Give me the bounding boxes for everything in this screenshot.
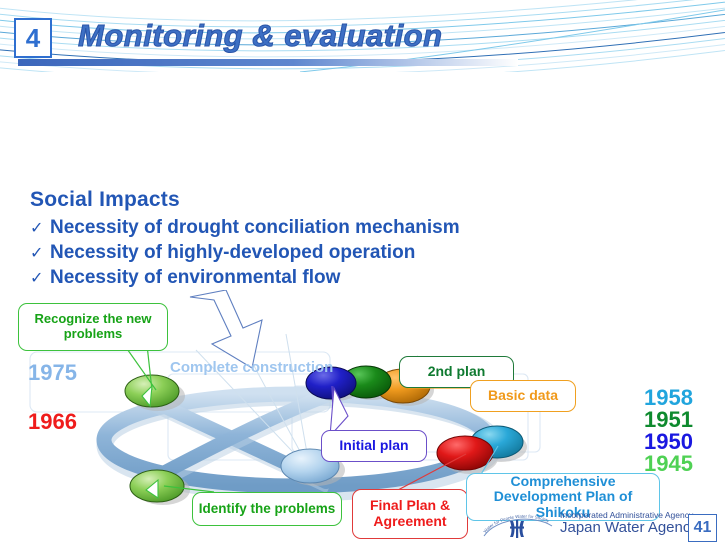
list-item: ✓Necessity of environmental flow [30, 265, 460, 290]
social-impacts-list: ✓Necessity of drought conciliation mecha… [30, 215, 460, 290]
callout-basic-data: Basic data [470, 380, 576, 412]
social-impacts-block: Social Impacts ✓Necessity of drought con… [30, 188, 460, 290]
page-number-badge: 41 [688, 514, 717, 542]
social-impacts-heading: Social Impacts [30, 188, 460, 212]
presentation-slide: 4 Monitoring & evaluation Social Impacts… [0, 0, 725, 544]
year-label-1975: 1975 [28, 360, 77, 386]
check-icon: ✓ [30, 243, 50, 264]
japan-water-agency-logo-icon: Water for People Water for Society [480, 510, 558, 542]
page-title: Monitoring & evaluation [78, 18, 443, 54]
list-item-label: Necessity of highly-developed operation [50, 242, 415, 263]
callout-identify-the-problems: Identify the problems [192, 492, 342, 526]
list-item-label: Necessity of drought conciliation mechan… [50, 217, 460, 238]
check-icon: ✓ [30, 268, 50, 289]
list-item: ✓Necessity of drought conciliation mecha… [30, 215, 460, 240]
year-label-1966: 1966 [28, 409, 77, 435]
check-icon: ✓ [30, 218, 50, 239]
callout-final-plan-agreement: Final Plan & Agreement [352, 489, 468, 539]
list-item: ✓Necessity of highly-developed operation [30, 240, 460, 265]
agency-name-block: Incorporated Administrative Agency Japan… [560, 511, 698, 537]
section-number-badge: 4 [14, 18, 52, 58]
list-item-label: Necessity of environmental flow [50, 267, 340, 288]
agency-title: Japan Water Agency [560, 520, 698, 537]
callout-recognize-the-new-problems: Recognize the new problems [18, 303, 168, 351]
title-underline-rule [18, 59, 518, 66]
complete-construction-label: Complete construction [170, 359, 333, 376]
callout-initial-plan: Initial plan [321, 430, 427, 462]
